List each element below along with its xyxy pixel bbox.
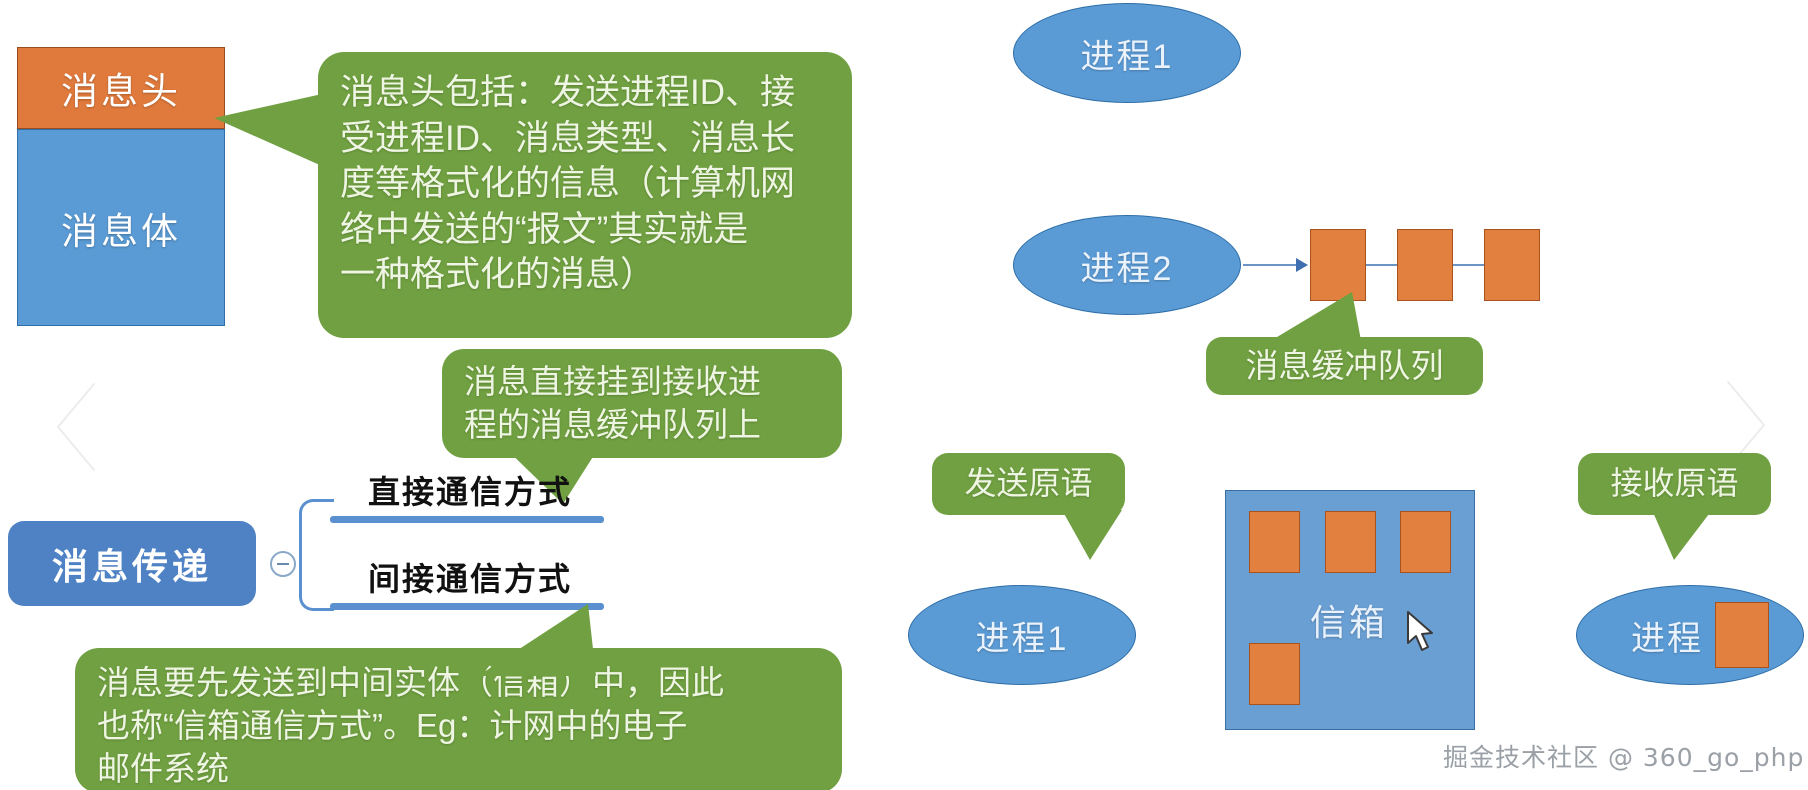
mailbox-slot xyxy=(1249,643,1300,705)
mailbox-label: 信箱 xyxy=(1310,594,1388,646)
callout-line: 一种格式化的消息） xyxy=(340,252,832,298)
callout-line: 消息直接挂到接收进 xyxy=(464,361,822,404)
process-node-top: 进程1 xyxy=(1013,3,1241,103)
process-node-top-label: 进程1 xyxy=(1081,29,1174,78)
indirect-communication-callout: 消息要先发送到中间实体（信箱）中，因此 也称“信箱通信方式”。Eg：计网中的电子… xyxy=(75,648,842,790)
callout-line: 也称“信箱通信方式”。Eg：计网中的电子 xyxy=(97,705,822,748)
slide-canvas: 消息头 消息体 消息头包括：发送进程ID、接 受进程ID、消息类型、消息长 度等… xyxy=(0,0,1808,790)
receive-primitive-callout: 接收原语 xyxy=(1578,453,1771,515)
watermark-label: 掘金技术社区 @ 360_go_php xyxy=(1443,738,1804,774)
process-node-sender: 进程1 xyxy=(908,585,1136,685)
callout-line: 络中发送的“报文”其实就是 xyxy=(340,207,832,253)
queue-slot xyxy=(1397,229,1453,301)
callout-line: 邮件系统 xyxy=(97,748,822,790)
queue-label-text: 消息缓冲队列 xyxy=(1206,345,1483,388)
message-body-label: 消息体 xyxy=(18,130,224,325)
process-node-receiver: 进程 xyxy=(1576,585,1804,685)
mailbox-slot xyxy=(1400,511,1451,573)
mouse-pointer-icon xyxy=(1406,611,1436,655)
chevron-left-icon[interactable] xyxy=(42,372,112,482)
indirect-callout-tail-icon xyxy=(470,600,600,680)
mindmap-branch-label-direct[interactable]: 直接通信方式 xyxy=(368,467,572,513)
mindmap-root-label: 消息传递 xyxy=(52,538,212,590)
message-header-label: 消息头 xyxy=(18,48,224,128)
queue-arrow-head-icon xyxy=(1296,258,1308,272)
minus-icon xyxy=(277,563,289,565)
mindmap-branch-underline-direct xyxy=(330,516,604,523)
mindmap-branch-label-indirect[interactable]: 间接通信方式 xyxy=(368,554,572,600)
queue-callout-tail-icon xyxy=(1256,288,1366,350)
send-primitive-text: 发送原语 xyxy=(932,463,1125,505)
header-callout-tail-icon xyxy=(212,88,342,178)
receiver-message-slot xyxy=(1715,602,1769,668)
receive-primitive-tail-icon xyxy=(1650,508,1720,564)
process-node-sender-label: 进程1 xyxy=(976,611,1069,660)
message-body-box: 消息体 xyxy=(17,129,225,326)
message-header-box: 消息头 xyxy=(17,47,225,129)
mindmap-collapse-toggle[interactable] xyxy=(270,551,296,577)
callout-line: 消息要先发送到中间实体（信箱）中，因此 xyxy=(97,662,822,705)
send-primitive-callout: 发送原语 xyxy=(932,453,1125,515)
callout-line: 度等格式化的信息（计算机网 xyxy=(340,161,832,207)
queue-slot xyxy=(1484,229,1540,301)
header-description-callout: 消息头包括：发送进程ID、接 受进程ID、消息类型、消息长 度等格式化的信息（计… xyxy=(318,52,852,338)
mindmap-root-node[interactable]: 消息传递 xyxy=(8,521,256,606)
queue-connector-line xyxy=(1243,264,1298,266)
mailbox-slot xyxy=(1325,511,1376,573)
process-node-mid: 进程2 xyxy=(1013,215,1241,315)
mailbox-slot xyxy=(1249,511,1300,573)
callout-line: 受进程ID、消息类型、消息长 xyxy=(340,116,832,162)
receive-primitive-text: 接收原语 xyxy=(1578,463,1771,505)
process-node-mid-label: 进程2 xyxy=(1081,241,1174,290)
callout-line: 程的消息缓冲队列上 xyxy=(464,404,822,447)
mindmap-branch-connector xyxy=(299,499,334,611)
process-node-receiver-label: 进程 xyxy=(1631,611,1703,660)
send-primitive-tail-icon xyxy=(1060,508,1130,564)
callout-line: 消息头包括：发送进程ID、接 xyxy=(340,70,832,116)
